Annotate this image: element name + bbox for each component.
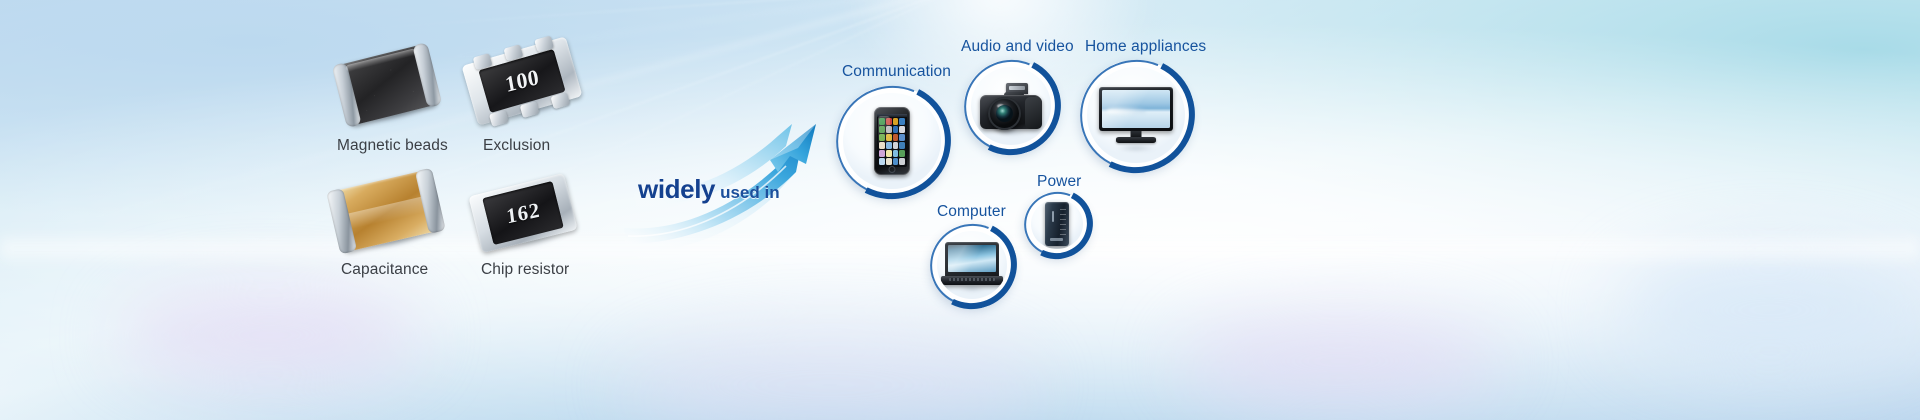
phone-app-icon: [879, 150, 885, 157]
phone-app-icon: [899, 126, 905, 133]
slogan: widely used in: [638, 174, 780, 205]
phone-app-icon: [893, 150, 899, 157]
phone-app-icon: [893, 118, 899, 125]
phone-app-icon: [886, 150, 892, 157]
phone-app-icon: [899, 142, 905, 149]
tv-stand-foot: [1116, 137, 1156, 143]
camera-lens: [988, 97, 1021, 130]
phone-app-icon: [893, 126, 899, 133]
laptop-screen: [948, 245, 996, 272]
application-badge-communication[interactable]: [836, 86, 948, 196]
application-label-communication: Communication: [842, 63, 951, 81]
slogan-rest: used in: [720, 183, 780, 203]
phone-app-icon: [899, 150, 905, 157]
phone-app-icon: [886, 158, 892, 165]
laptop-icon: [941, 242, 1003, 288]
phone-app-icon: [893, 142, 899, 149]
badge-inner: [937, 231, 1007, 299]
device-shadow: [952, 285, 991, 291]
phone-app-icon: [893, 158, 899, 165]
phone-app-icon: [879, 158, 885, 165]
phone-app-icon: [893, 134, 899, 141]
phone-app-icon: [899, 134, 905, 141]
badge-inner: [1087, 67, 1185, 163]
laptop-keyboard-base: [941, 276, 1003, 285]
tv-bezel: [1099, 87, 1173, 131]
tv-screen: [1102, 90, 1170, 128]
application-label-computer: Computer: [937, 203, 1006, 221]
badge-inner: [1031, 199, 1083, 249]
product-label-magnetic-beads: Magnetic beads: [337, 137, 448, 155]
camera-icon: [980, 83, 1042, 129]
smartphone-icon: [874, 107, 910, 175]
product-label-chip-resistor: Chip resistor: [481, 261, 569, 279]
application-badge-computer[interactable]: [930, 224, 1014, 306]
camera-grip: [1025, 97, 1042, 129]
application-label-audio-and-video: Audio and video: [961, 38, 1074, 56]
laptop-lid: [945, 242, 999, 277]
device-shadow: [1109, 144, 1164, 153]
product-label-exclusion: Exclusion: [483, 137, 550, 155]
application-badge-audio-and-video[interactable]: [964, 60, 1058, 152]
device-shadow: [865, 170, 920, 179]
device-shadow: [1042, 239, 1071, 244]
application-badge-power[interactable]: [1024, 192, 1090, 256]
product-label-capacitance: Capacitance: [341, 261, 428, 279]
television-icon: [1099, 87, 1173, 143]
application-label-home-appliances: Home appliances: [1085, 38, 1206, 56]
power-bank-indicator: [1052, 211, 1054, 222]
component-marking: 162: [505, 197, 542, 229]
phone-app-icon: [899, 158, 905, 165]
phone-gloss: [878, 116, 890, 145]
badge-inner: [971, 67, 1051, 145]
application-badge-home-appliances[interactable]: [1080, 60, 1192, 170]
widely-used-in-arrow: widely used in: [620, 120, 840, 260]
device-shadow: [989, 129, 1034, 136]
application-banner: 100 162 Magnetic beads Exclusion Capacit…: [0, 0, 1920, 420]
phone-app-icon: [899, 118, 905, 125]
slogan-emphasis: widely: [638, 174, 715, 205]
badge-inner: [843, 93, 941, 189]
